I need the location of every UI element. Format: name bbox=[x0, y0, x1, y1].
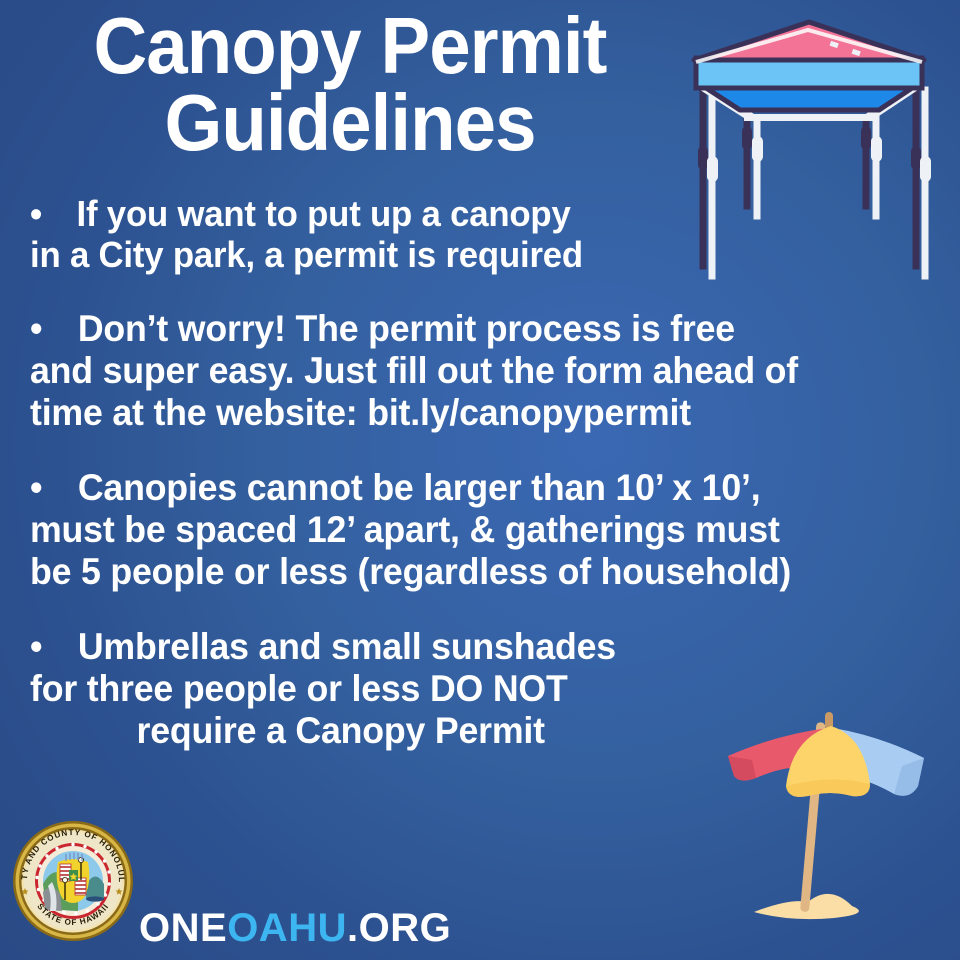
list-item: • If you want to put up a canopy in a Ci… bbox=[30, 193, 899, 275]
honolulu-seal-logo: CITY AND COUNTY OF HONOLULU STATE OF HAW… bbox=[12, 820, 134, 942]
beach-umbrella-icon bbox=[712, 700, 952, 940]
url-part-one: ONE bbox=[139, 906, 227, 950]
page-title: Canopy Permit Guidelines bbox=[25, 8, 676, 162]
url-part-org: .ORG bbox=[347, 906, 451, 950]
guidelines-list: • If you want to put up a canopy in a Ci… bbox=[30, 193, 930, 785]
list-item: • Canopies cannot be larger than 10’ x 1… bbox=[30, 467, 899, 593]
footer-website-url[interactable]: ONEOAHU.ORG bbox=[139, 906, 451, 951]
url-part-oahu: OAHU bbox=[227, 906, 347, 950]
canopy-permit-poster: Canopy Permit Guidelines bbox=[0, 0, 960, 960]
list-item: • Don’t worry! The permit process is fre… bbox=[30, 308, 899, 434]
